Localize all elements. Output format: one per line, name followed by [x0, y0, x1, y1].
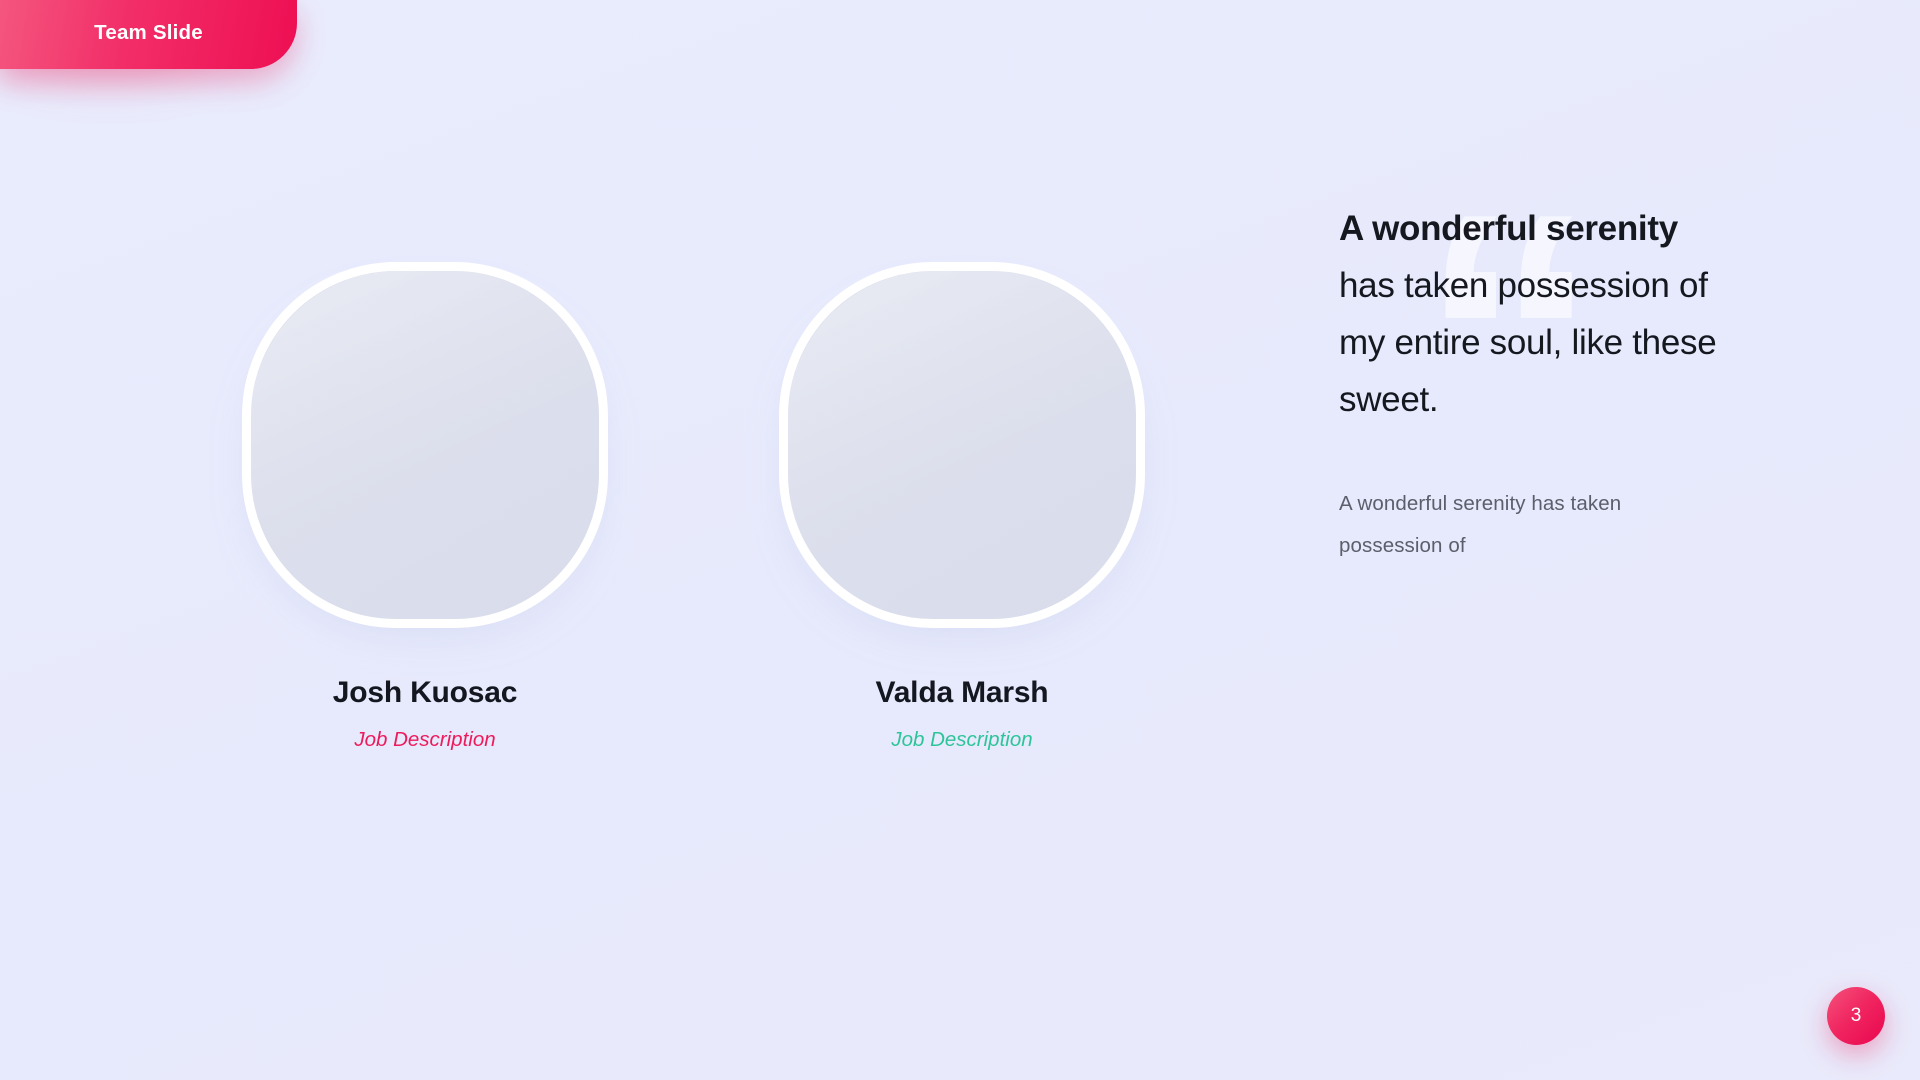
- member-role: Job Description: [215, 729, 635, 752]
- page-number-badge[interactable]: 3: [1827, 987, 1885, 1045]
- quote-block: “ A wonderful serenity has taken possess…: [1339, 200, 1719, 567]
- slide-title-label: Team Slide: [94, 23, 203, 46]
- member-name: Josh Kuosac: [215, 676, 635, 709]
- member-name: Valda Marsh: [752, 676, 1172, 709]
- member-role: Job Description: [752, 729, 1172, 752]
- quote-text: A wonderful serenity has taken possessio…: [1339, 200, 1719, 428]
- avatar-image-placeholder[interactable]: [242, 262, 608, 628]
- quote-lead: A wonderful serenity: [1339, 209, 1678, 248]
- team-member-card[interactable]: Valda Marsh Job Description: [752, 262, 1172, 752]
- quote-rest: has taken possession of my entire soul, …: [1339, 266, 1716, 419]
- quote-subtext: A wonderful serenity has taken possessio…: [1339, 483, 1639, 567]
- avatar-gloss: [788, 271, 1136, 619]
- slide-title-ribbon[interactable]: Team Slide: [0, 0, 297, 69]
- page-number-label: 3: [1851, 1005, 1862, 1027]
- avatar-image-placeholder[interactable]: [779, 262, 1145, 628]
- team-member-card[interactable]: Josh Kuosac Job Description: [215, 262, 635, 752]
- slide-canvas: Team Slide Josh Kuosac Job Description V…: [0, 0, 1920, 1080]
- avatar[interactable]: [779, 262, 1145, 628]
- avatar[interactable]: [242, 262, 608, 628]
- avatar-gloss: [251, 271, 599, 619]
